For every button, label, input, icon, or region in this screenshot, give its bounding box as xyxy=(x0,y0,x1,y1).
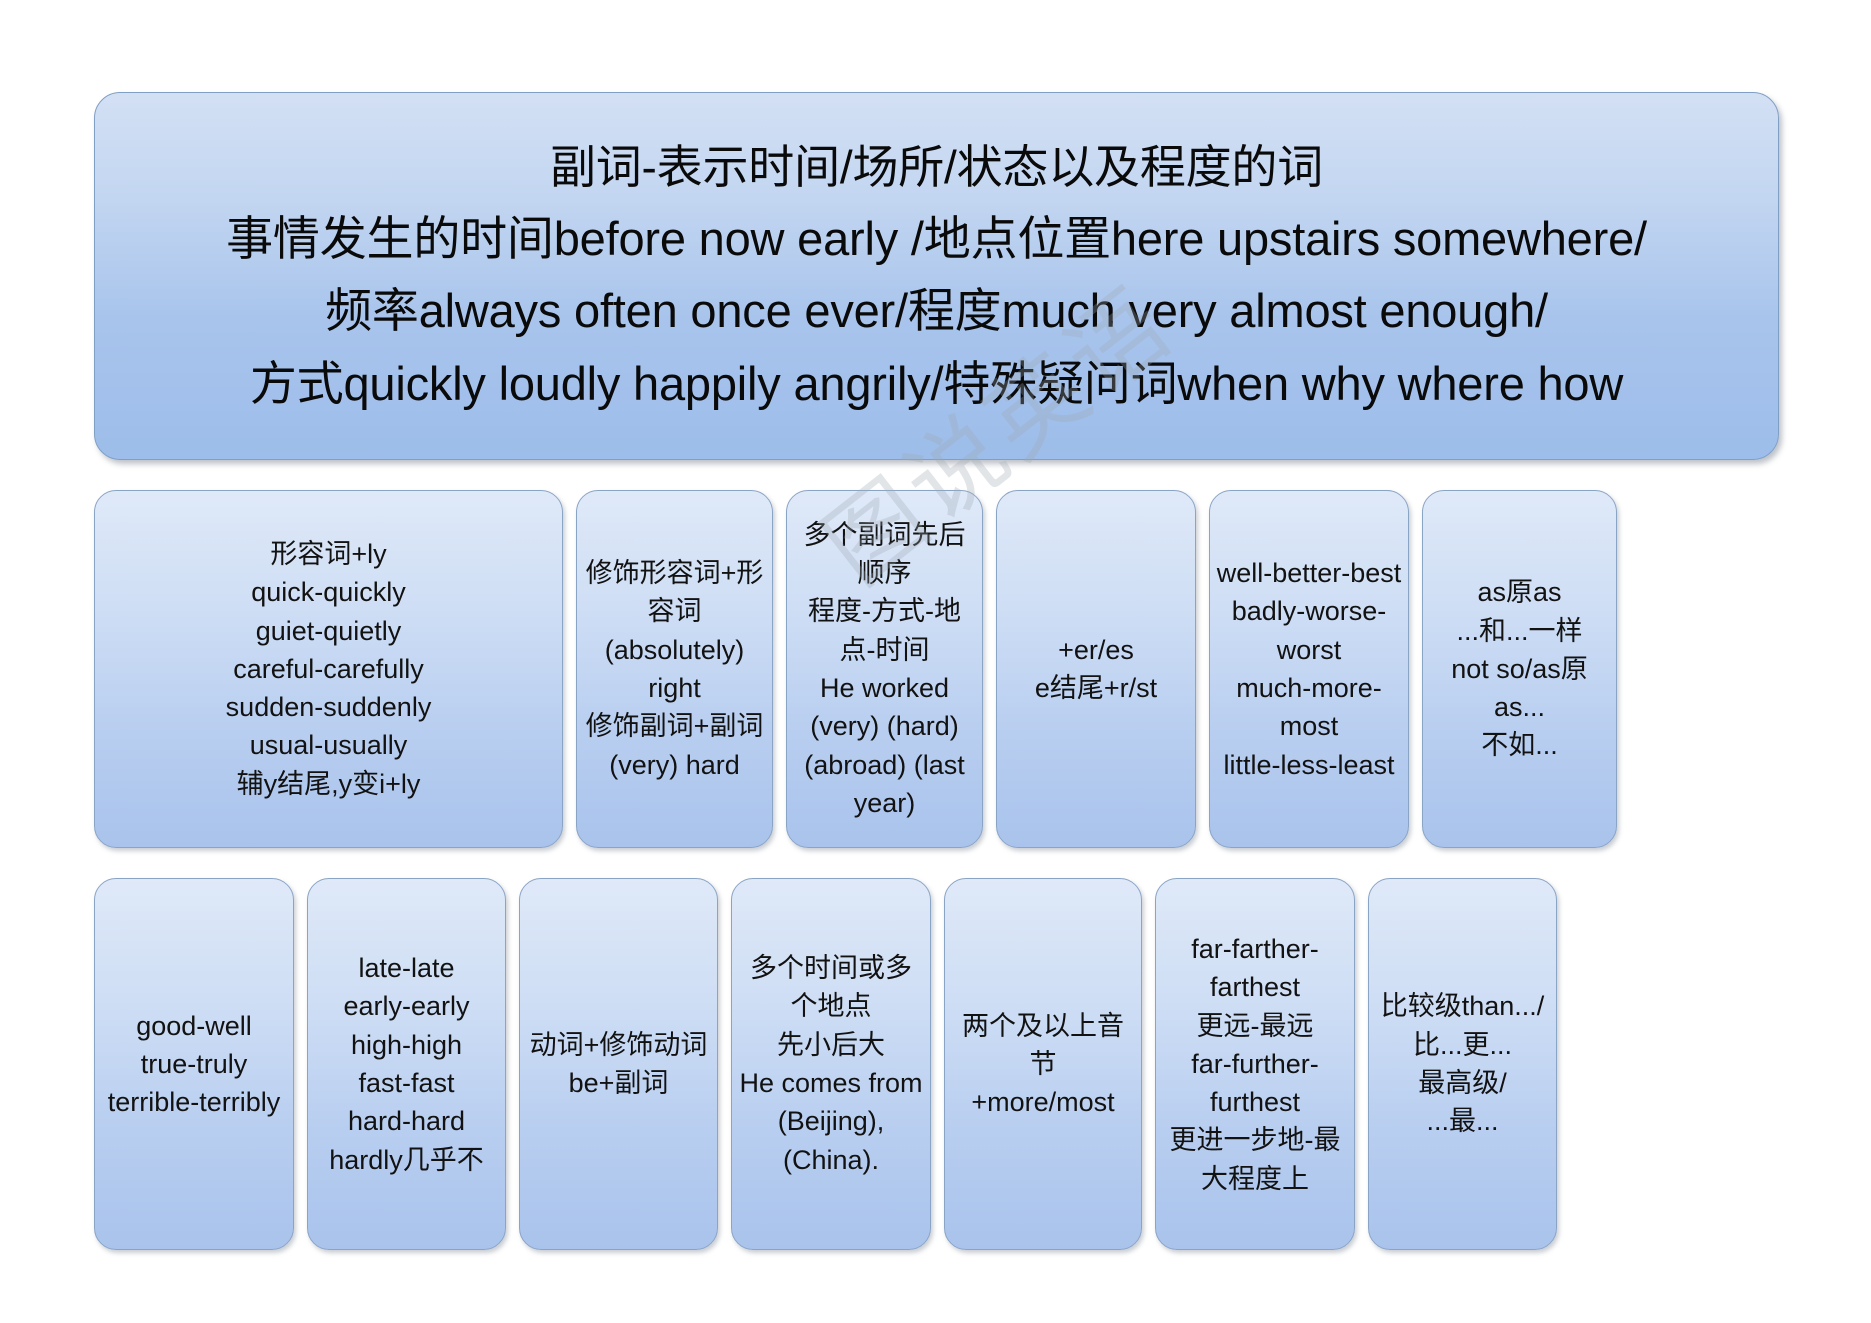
card-line: 多个时间或多个地点 xyxy=(738,949,924,1026)
card-line: 程度-方式-地点-时间 xyxy=(793,592,976,669)
card-adjective-plus-ly: 形容词+ly quick-quickly guiet-quietly caref… xyxy=(94,490,563,848)
card-as-as-structure: as原as ...和...一样 not so/as原as... 不如... xyxy=(1422,490,1617,848)
card-line: as原as xyxy=(1429,573,1610,611)
header-banner: 副词-表示时间/场所/状态以及程度的词 事情发生的时间before now ea… xyxy=(94,92,1779,460)
card-same-form-adverbs: late-late early-early high-high fast-fas… xyxy=(307,878,506,1250)
card-line: +er/es xyxy=(1003,631,1189,669)
card-line: not so/as原as... xyxy=(1429,650,1610,727)
card-line: He worked (very) (hard) (abroad) (last y… xyxy=(793,669,976,822)
card-line: quick-quickly xyxy=(101,573,556,611)
card-line: 比...更... xyxy=(1375,1026,1550,1064)
card-line: be+副词 xyxy=(526,1064,711,1102)
card-line: high-high xyxy=(314,1026,499,1064)
card-line: e结尾+r/st xyxy=(1003,669,1189,707)
card-line: 比较级than.../ xyxy=(1375,987,1550,1025)
card-row-one: 形容词+ly quick-quickly guiet-quietly caref… xyxy=(94,490,1617,848)
card-line: good-well xyxy=(101,1007,287,1045)
card-line: (very) hard xyxy=(583,746,766,784)
card-adverb-order: 多个副词先后顺序 程度-方式-地点-时间 He worked (very) (h… xyxy=(786,490,983,848)
card-line: guiet-quietly xyxy=(101,612,556,650)
card-line: 最高级/ xyxy=(1375,1064,1550,1102)
card-line: true-truly xyxy=(101,1045,287,1083)
card-line: hardly几乎不 xyxy=(314,1141,499,1179)
header-line-manner-question: 方式quickly loudly happily angrily/特殊疑问词wh… xyxy=(250,348,1623,420)
card-modify-adjective: 修饰形容词+形容词 (absolutely) right 修饰副词+副词 (ve… xyxy=(576,490,773,848)
card-line: hard-hard xyxy=(314,1102,499,1140)
card-line: ...最... xyxy=(1375,1102,1550,1140)
card-line: badly-worse-worst xyxy=(1216,592,1402,669)
card-line: +more/most xyxy=(951,1083,1135,1121)
card-comparative-superlative: 比较级than.../ 比...更... 最高级/ ...最... xyxy=(1368,878,1557,1250)
card-line: far-further-furthest xyxy=(1162,1045,1348,1122)
card-line: 更进一步地-最大程度上 xyxy=(1162,1121,1348,1198)
card-line: 形容词+ly xyxy=(101,535,556,573)
card-line: 更远-最远 xyxy=(1162,1007,1348,1045)
card-place-order: 多个时间或多个地点 先小后大 He comes from (Beijing), … xyxy=(731,878,931,1250)
card-line: sudden-suddenly xyxy=(101,688,556,726)
card-line: far-farther-farthest xyxy=(1162,930,1348,1007)
card-line: He comes from (Beijing), (China). xyxy=(738,1064,924,1179)
card-row-two: good-well true-truly terrible-terribly l… xyxy=(94,878,1557,1250)
card-line: late-late xyxy=(314,949,499,987)
card-line: much-more-most xyxy=(1216,669,1402,746)
card-line: 先小后大 xyxy=(738,1026,924,1064)
card-line: 修饰形容词+形容词 xyxy=(583,554,766,631)
card-verb-modifier: 动词+修饰动词 be+副词 xyxy=(519,878,718,1250)
card-line: careful-carefully xyxy=(101,650,556,688)
card-line: 辅y结尾,y变i+ly xyxy=(101,765,556,803)
header-line-time-place: 事情发生的时间before now early /地点位置here upstai… xyxy=(226,203,1647,275)
card-line: 不如... xyxy=(1429,726,1610,764)
card-line: early-early xyxy=(314,987,499,1025)
card-line: fast-fast xyxy=(314,1064,499,1102)
card-irregular-adverbs: good-well true-truly terrible-terribly xyxy=(94,878,294,1250)
card-line: well-better-best xyxy=(1216,554,1402,592)
card-line: 动词+修饰动词 xyxy=(526,1026,711,1064)
card-line: terrible-terribly xyxy=(101,1083,287,1121)
card-line: usual-usually xyxy=(101,726,556,764)
card-line: 修饰副词+副词 xyxy=(583,707,766,745)
card-line: little-less-least xyxy=(1216,746,1402,784)
card-line: (absolutely) right xyxy=(583,631,766,708)
card-er-es-suffix: +er/es e结尾+r/st xyxy=(996,490,1196,848)
card-far-comparison: far-farther-farthest 更远-最远 far-further-f… xyxy=(1155,878,1355,1250)
card-line: ...和...一样 xyxy=(1429,612,1610,650)
card-line: 多个副词先后顺序 xyxy=(793,516,976,593)
header-title-line: 副词-表示时间/场所/状态以及程度的词 xyxy=(550,132,1323,203)
card-line: 两个及以上音节 xyxy=(951,1007,1135,1084)
header-line-frequency-degree: 频率always often once ever/程度much very alm… xyxy=(325,275,1548,347)
card-irregular-comparison: well-better-best badly-worse-worst much-… xyxy=(1209,490,1409,848)
card-more-most-rule: 两个及以上音节 +more/most xyxy=(944,878,1142,1250)
